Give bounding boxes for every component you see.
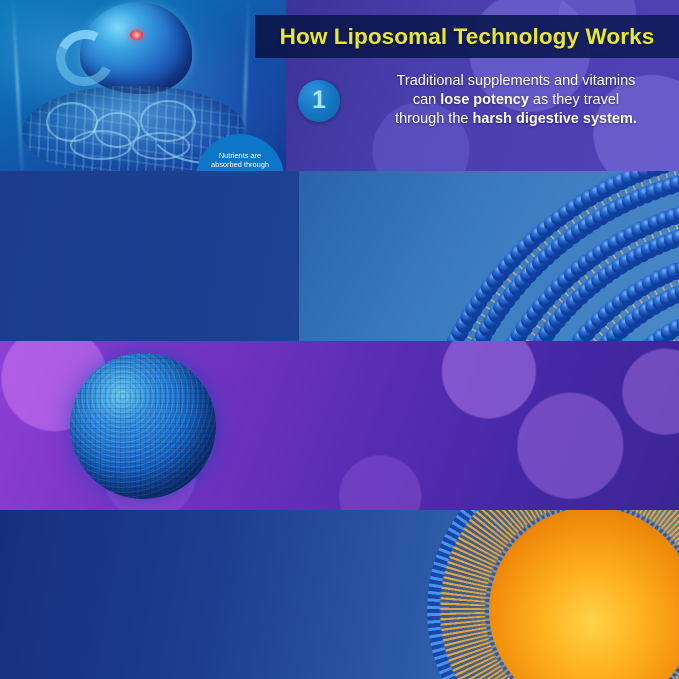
- intestine-coil: [70, 130, 132, 160]
- bilayer-svg: [299, 171, 679, 341]
- step-1-line-1: Traditional supplements and vitamins: [397, 73, 636, 89]
- page-title: How Liposomal Technology Works: [280, 24, 655, 50]
- step-1: 1 Traditional supplements and vitamins c…: [298, 72, 670, 129]
- phospholipid-bilayer-illustration: [299, 171, 679, 341]
- step-1-emphasis-lose-potency: lose potency: [440, 92, 529, 108]
- step-1-line-2-prefix: can: [413, 92, 440, 108]
- callout-line-1: Nutrients are: [219, 151, 261, 160]
- liposome-sphere-illustration: [70, 353, 216, 499]
- step-1-text: Traditional supplements and vitamins can…: [362, 72, 670, 129]
- step-1-line-2-suffix: as they travel: [529, 92, 619, 108]
- title-banner: How Liposomal Technology Works: [255, 15, 679, 58]
- step-1-line-3-prefix: through the: [395, 111, 472, 127]
- step-number-1: 1: [298, 80, 340, 122]
- panel-step-4: 4 Now, more nutrient can reach its desti…: [0, 510, 679, 679]
- panel-step-2: Phospholipids are made of the same mater…: [0, 171, 679, 341]
- callout-line-2: absorbed through: [211, 160, 269, 169]
- liposome-cross-section-illustration: [427, 510, 679, 679]
- step-1-emphasis-harsh-digestive: harsh digestive system.: [472, 111, 636, 127]
- infographic-root: Nutrients are absorbed through the intes…: [0, 0, 679, 679]
- stomach-highlight-spot: [130, 30, 143, 40]
- panel-step-3: 3 This helps shield nutrients from the s…: [0, 341, 679, 510]
